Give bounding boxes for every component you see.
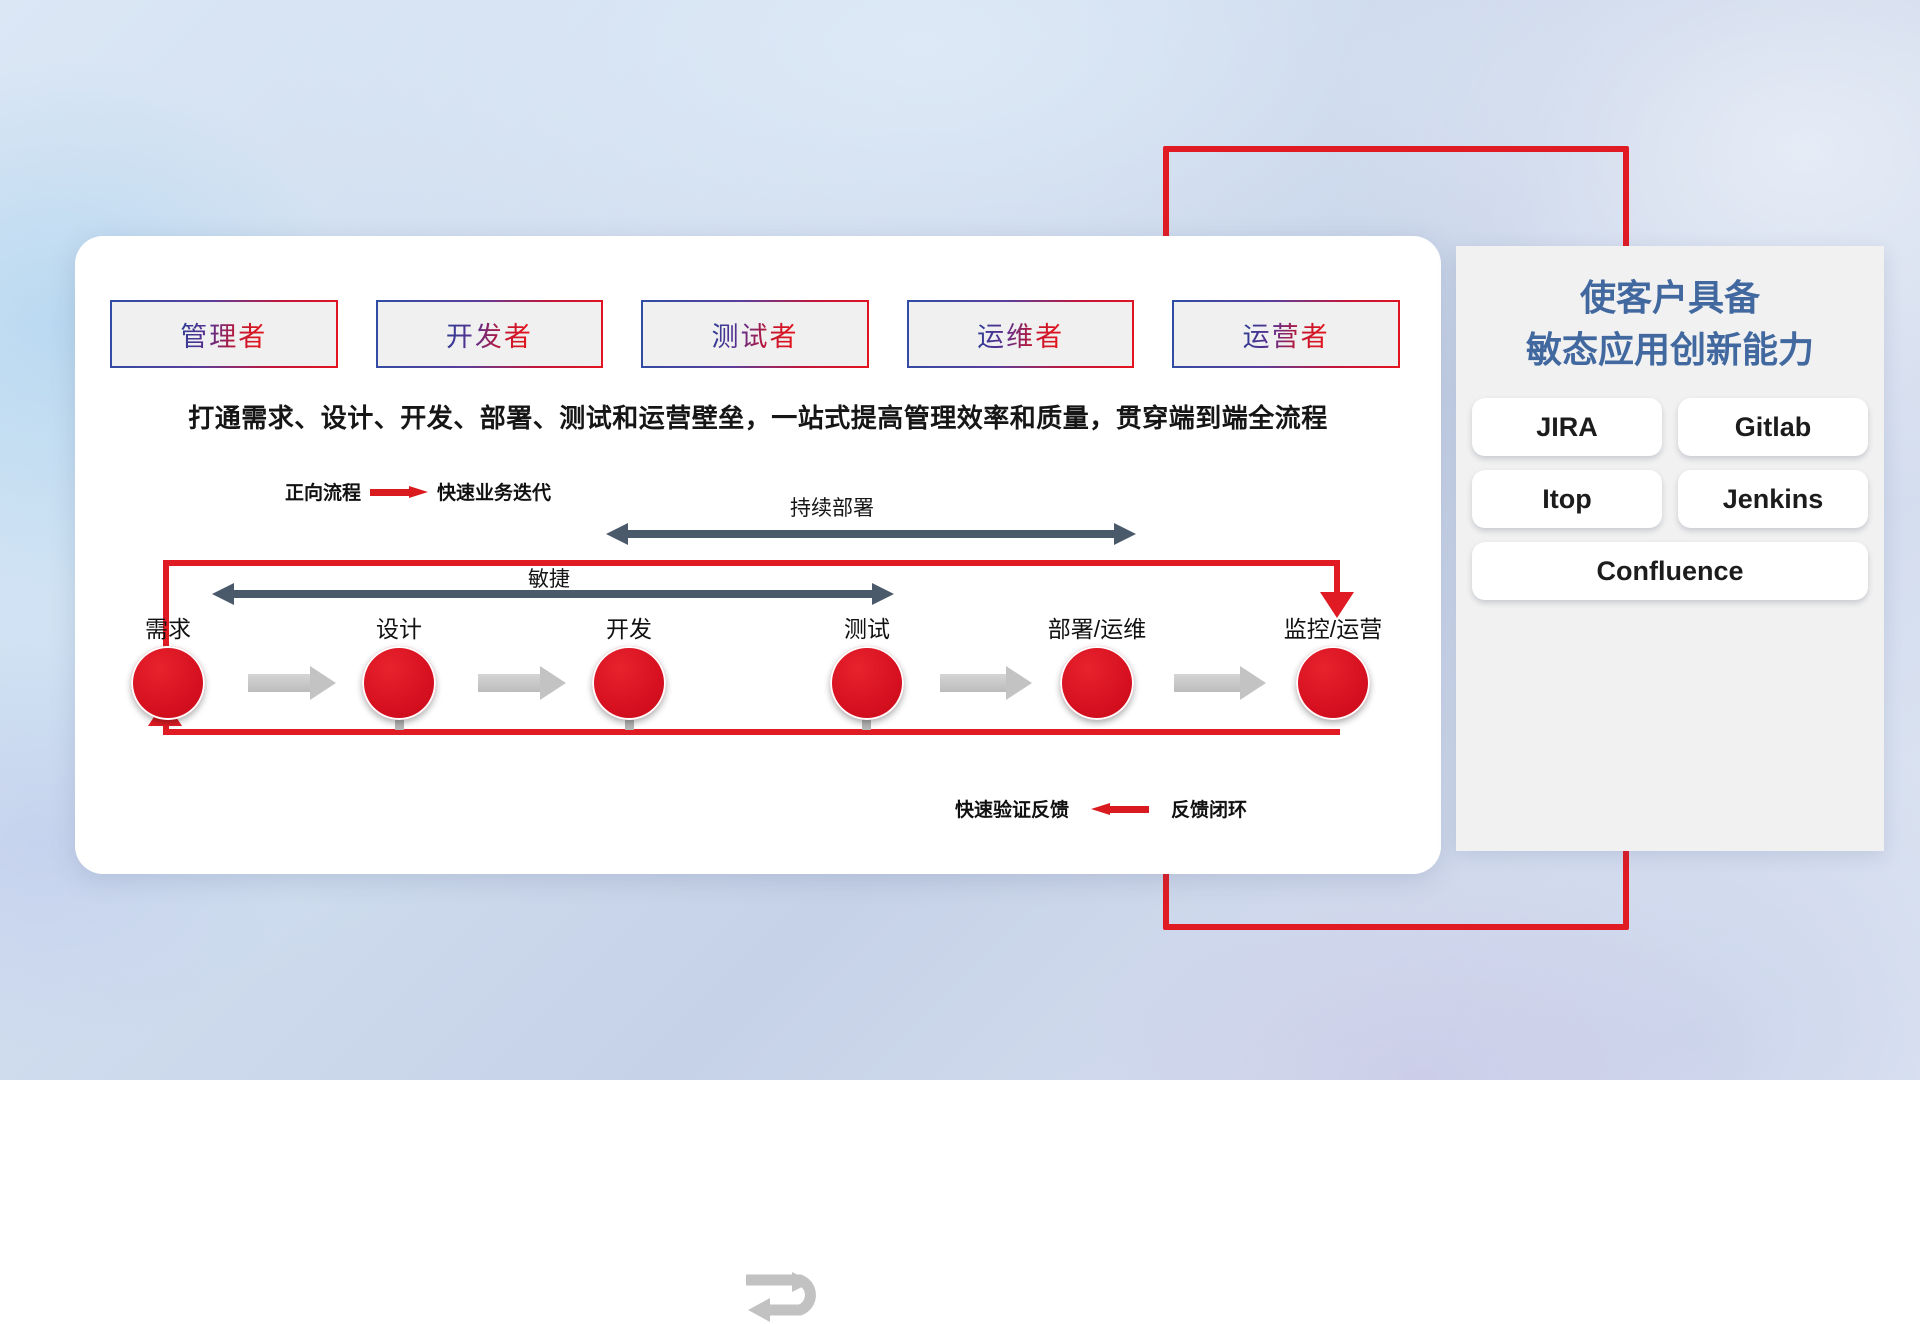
tool-chip-itop[interactable]: Itop [1472, 470, 1662, 528]
pipeline-node-label: 需求 [145, 610, 191, 644]
block-arrow-right-icon [1174, 666, 1266, 700]
pipeline-node-test[interactable]: 测试 [830, 646, 904, 720]
legend-forward-right-label: 快速业务迭代 [437, 478, 551, 505]
tool-chip-confluence[interactable]: Confluence [1472, 542, 1868, 600]
value-proposition-panel: 使客户具备 敏态应用创新能力 JIRA Gitlab Itop Jenkins … [1456, 246, 1884, 851]
role-label: 开发者 [446, 315, 533, 354]
role-label: 运营者 [1243, 315, 1330, 354]
continuous-deployment-label: 持续部署 [790, 492, 874, 522]
tool-chip-gitlab[interactable]: Gitlab [1678, 398, 1868, 456]
pipeline-row: 需求 设计 开发 测试 部署/运维 监控/运营 [0, 618, 1516, 728]
pipeline-node-label: 开发 [606, 610, 652, 644]
red-loop-right-segment [1334, 560, 1340, 596]
pipeline-node-monitor-operations[interactable]: 监控/运营 [1296, 646, 1370, 720]
legend-feedback-left-label: 快速验证反馈 [955, 795, 1069, 822]
legend-feedback-loop: 快速验证反馈 反馈闭环 [955, 795, 1247, 822]
arrow-right-icon [370, 486, 428, 498]
legend-forward-flow: 正向流程 快速业务迭代 [285, 478, 551, 505]
node-dot-icon [362, 646, 436, 720]
arrow-left-icon [1091, 803, 1149, 815]
pipeline-node-develop[interactable]: 开发 [592, 646, 666, 720]
role-box-developer[interactable]: 开发者 [376, 300, 604, 368]
node-dot-icon [1060, 646, 1134, 720]
agile-label: 敏捷 [528, 563, 570, 593]
pipeline-node-label: 部署/运维 [1048, 610, 1146, 644]
block-arrow-right-icon [940, 666, 1032, 700]
pipeline-node-label: 测试 [844, 610, 890, 644]
role-label: 管理者 [180, 315, 267, 354]
node-dot-icon [592, 646, 666, 720]
role-label: 测试者 [711, 315, 798, 354]
role-box-tester[interactable]: 测试者 [641, 300, 869, 368]
node-dot-icon [131, 646, 205, 720]
panel-title-line1: 使客户具备 [1466, 272, 1874, 324]
role-box-operations[interactable]: 运营者 [1172, 300, 1400, 368]
legend-forward-left-label: 正向流程 [285, 478, 361, 505]
node-dot-icon [1296, 646, 1370, 720]
pipeline-node-design[interactable]: 设计 [362, 646, 436, 720]
red-feedback-loop-icon [163, 560, 1340, 566]
pipeline-node-requirements[interactable]: 需求 [131, 646, 205, 720]
role-box-row: 管理者 开发者 测试者 运维者 运营者 [110, 300, 1400, 368]
legend-feedback-right-label: 反馈闭环 [1171, 795, 1247, 822]
role-box-ops[interactable]: 运维者 [907, 300, 1135, 368]
tool-chip-list: JIRA Gitlab Itop Jenkins Confluence [1456, 380, 1884, 600]
continuous-deployment-arrow [606, 523, 1136, 545]
block-arrow-right-icon [248, 666, 336, 700]
pipeline-node-deploy-ops[interactable]: 部署/运维 [1060, 646, 1134, 720]
role-label: 运维者 [977, 315, 1064, 354]
pipeline-node-label: 设计 [376, 610, 422, 644]
red-loop-bottom-segment [163, 729, 1340, 735]
panel-title-line2: 敏态应用创新能力 [1466, 324, 1874, 376]
block-arrow-right-icon [478, 666, 566, 700]
node-dot-icon [830, 646, 904, 720]
panel-title: 使客户具备 敏态应用创新能力 [1456, 246, 1884, 380]
tool-chip-jenkins[interactable]: Jenkins [1678, 470, 1868, 528]
tool-chip-jira[interactable]: JIRA [1472, 398, 1662, 456]
role-box-manager[interactable]: 管理者 [110, 300, 338, 368]
u-turn-loop-arrow-icon [740, 1266, 840, 1324]
pipeline-node-label: 监控/运营 [1284, 610, 1382, 644]
headline-text: 打通需求、设计、开发、部署、测试和运营壁垒，一站式提高管理效率和质量，贯穿端到端… [0, 398, 1516, 435]
